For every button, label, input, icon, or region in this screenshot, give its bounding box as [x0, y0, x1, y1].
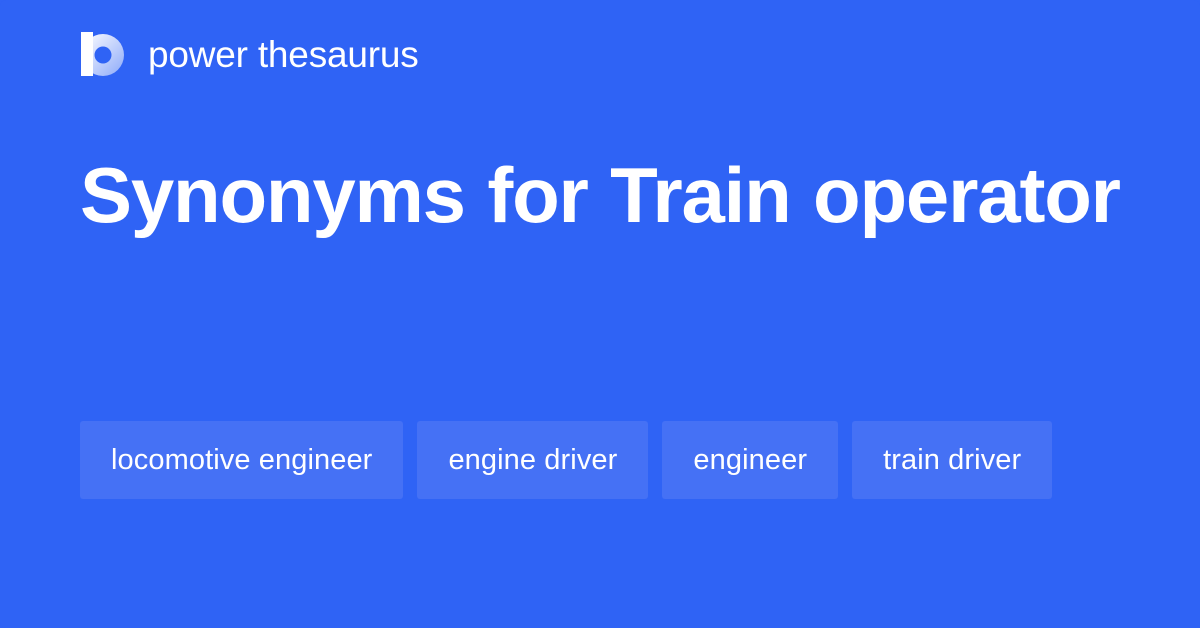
brand-name: power thesaurus: [148, 36, 419, 73]
synonym-chip[interactable]: engineer: [662, 421, 838, 499]
page-title: Synonyms for Train operator: [80, 138, 1120, 252]
synonym-chip[interactable]: train driver: [852, 421, 1052, 499]
power-thesaurus-b-logo-icon: [80, 31, 126, 77]
synonym-list: locomotive engineer engine driver engine…: [80, 421, 1120, 499]
synonym-chip[interactable]: engine driver: [417, 421, 648, 499]
og-preview-card: power thesaurus Synonyms for Train opera…: [0, 0, 1200, 628]
brand-lockup[interactable]: power thesaurus: [80, 26, 419, 82]
synonym-chip[interactable]: locomotive engineer: [80, 421, 403, 499]
